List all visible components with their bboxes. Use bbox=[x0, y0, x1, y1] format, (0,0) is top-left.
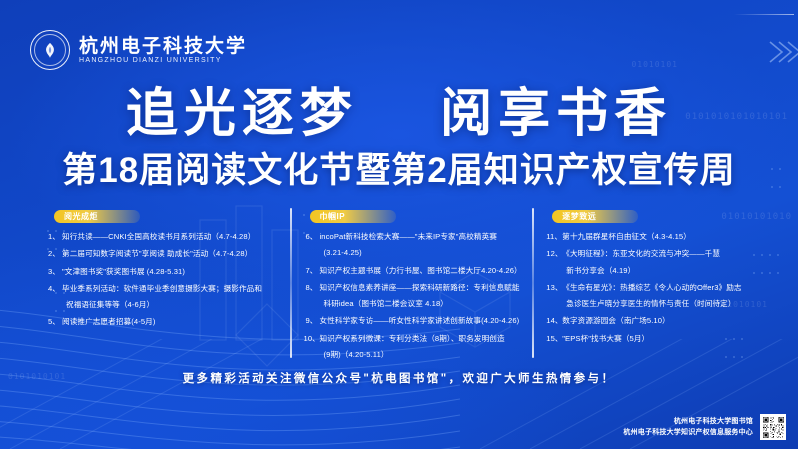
university-name-en: HANGZHOU DIANZI UNIVERSITY bbox=[79, 57, 247, 64]
binary-decoration-5: 01010101 bbox=[631, 60, 678, 69]
item-text: 第十九届群星杯自由征文（4.3-4.15） bbox=[562, 232, 772, 242]
item-text: 数字资源游园会（南广场5.10） bbox=[562, 316, 772, 326]
item-text-line2: 急诊医生卢晓分享医生的情怀与责任（时间待定） bbox=[562, 299, 772, 309]
item-number: 10、 bbox=[304, 334, 320, 361]
column-2: 巾帼IP 6、 incoPat新科技检索大赛——"未来IP专家"高校精英赛 (3… bbox=[290, 206, 533, 366]
column-divider bbox=[532, 208, 534, 358]
list-item: 10、 知识产权系列微课：专利分类法（8期）、职务发明创造 (9期)（4.20-… bbox=[304, 334, 525, 361]
item-text-line2: 科研idea（图书馆二楼会议室 4.18） bbox=[320, 299, 525, 309]
qr-code-icon[interactable] bbox=[760, 414, 786, 440]
chevron-arrow-icon bbox=[766, 38, 798, 71]
item-text: 《生命有星光》：热播综艺《令人心动的Offer3》励志 急诊医生卢晓分享医生的情… bbox=[562, 283, 772, 310]
item-text: 知识产权系列微课：专利分类法（8期）、职务发明创造 (9期)（4.20-5.11… bbox=[320, 334, 525, 361]
item-number: 2、 bbox=[46, 249, 62, 259]
title-main-right: 阅享书香 bbox=[440, 83, 672, 144]
item-text-line2: (9期)（4.20-5.11） bbox=[320, 350, 525, 360]
item-number: 1、 bbox=[46, 232, 62, 242]
footer-text: 杭州电子科技大学图书馆 杭州电子科技大学知识产权信息服务中心 bbox=[623, 416, 753, 438]
item-number: 4、 bbox=[46, 284, 62, 311]
column-3-items: 11、 第十九届群星杯自由征文（4.3-4.15） 12、 《大明征程》：东亚文… bbox=[546, 232, 772, 344]
item-number: 6、 bbox=[304, 232, 320, 259]
item-text-line1: 知识产权信息素养讲座——探索科研新路径：专利信息赋能 bbox=[320, 283, 520, 292]
column-3-badge: 逐梦致远 bbox=[552, 210, 638, 223]
item-text: 知识产权主题书展（力行书屋、图书馆二楼大厅4.20-4.26） bbox=[320, 266, 525, 276]
item-text-line2: 祝福语征集等等（4-6月） bbox=[62, 300, 282, 310]
column-3: 逐梦致远 11、 第十九届群星杯自由征文（4.3-4.15） 12、 《大明征程… bbox=[532, 206, 780, 366]
item-number: 12、 bbox=[546, 249, 562, 276]
page-title: 追光逐梦 阅享书香 bbox=[0, 88, 798, 140]
item-text-line1: incoPat新科技检索大赛——"未来IP专家"高校精英赛 bbox=[320, 232, 497, 241]
column-1-items: 1、 知行共读——CNKI全国高校读书月系列活动（4.7-4.28） 2、 第二… bbox=[34, 232, 282, 328]
item-text-line1: 知识产权系列微课：专利分类法（8期）、职务发明创造 bbox=[320, 334, 505, 343]
item-text-line2: (3.21-4.25) bbox=[320, 248, 525, 258]
list-item: 3、 "文津图书奖"获奖图书展 (4.28-5.31) bbox=[46, 267, 282, 277]
column-1-badge: 阅光成炬 bbox=[54, 210, 140, 223]
item-text: 女性科学家专访——听女性科学家讲述创新故事(4.20-4.26) bbox=[320, 316, 525, 326]
call-to-action: 更多精彩活动关注微信公众号"杭电图书馆"，欢迎广大师生热情参与！ bbox=[0, 370, 798, 386]
list-item: 2、 第二届可知数字阅读节"享阅读 助成长"活动（4.7-4.28） bbox=[46, 249, 282, 259]
item-text-line2: 新书分享会（4.19） bbox=[562, 266, 772, 276]
list-item: 5、 阅读推广志愿者招募(4-5月) bbox=[46, 317, 282, 327]
university-logo: 杭州电子科技大学 HANGZHOU DIANZI UNIVERSITY bbox=[30, 30, 247, 70]
list-item: 8、 知识产权信息素养讲座——探索科研新路径：专利信息赋能 科研idea（图书馆… bbox=[304, 283, 525, 310]
item-text: 毕业季系列活动：软件通毕业季创意摄影大赛；摄影作品和 祝福语征集等等（4-6月） bbox=[62, 284, 282, 311]
footer-line-1: 杭州电子科技大学图书馆 bbox=[623, 416, 753, 427]
item-text: "EPS杯"找书大赛（5月） bbox=[562, 334, 772, 344]
list-item: 1、 知行共读——CNKI全国高校读书月系列活动（4.7-4.28） bbox=[46, 232, 282, 242]
item-number: 15、 bbox=[546, 334, 562, 344]
item-number: 13、 bbox=[546, 283, 562, 310]
page-subtitle: 第18届阅读文化节暨第2届知识产权宣传周 bbox=[0, 152, 798, 191]
list-item: 11、 第十九届群星杯自由征文（4.3-4.15） bbox=[546, 232, 772, 242]
university-crest-icon bbox=[30, 30, 70, 70]
item-text: incoPat新科技检索大赛——"未来IP专家"高校精英赛 (3.21-4.25… bbox=[320, 232, 525, 259]
item-number: 9、 bbox=[304, 316, 320, 326]
list-item: 15、 "EPS杯"找书大赛（5月） bbox=[546, 334, 772, 344]
item-text-line1: 《大明征程》：东亚文化的交流与冲突——千慧 bbox=[562, 249, 720, 258]
item-text: 《大明征程》：东亚文化的交流与冲突——千慧 新书分享会（4.19） bbox=[562, 249, 772, 276]
column-2-badge: 巾帼IP bbox=[310, 210, 396, 223]
column-divider bbox=[290, 208, 292, 358]
item-number: 3、 bbox=[46, 267, 62, 277]
list-item: 4、 毕业季系列活动：软件通毕业季创意摄影大赛；摄影作品和 祝福语征集等等（4-… bbox=[46, 284, 282, 311]
item-text: 第二届可知数字阅读节"享阅读 助成长"活动（4.7-4.28） bbox=[62, 249, 282, 259]
item-text: "文津图书奖"获奖图书展 (4.28-5.31) bbox=[62, 267, 282, 277]
title-main-left: 追光逐梦 bbox=[126, 83, 358, 144]
university-name-cn: 杭州电子科技大学 bbox=[79, 37, 247, 56]
crest-bird-glyph bbox=[41, 41, 59, 59]
column-2-items: 6、 incoPat新科技检索大赛——"未来IP专家"高校精英赛 (3.21-4… bbox=[304, 232, 525, 360]
list-item: 12、 《大明征程》：东亚文化的交流与冲突——千慧 新书分享会（4.19） bbox=[546, 249, 772, 276]
item-text: 阅读推广志愿者招募(4-5月) bbox=[62, 317, 282, 327]
item-text: 知识产权信息素养讲座——探索科研新路径：专利信息赋能 科研idea（图书馆二楼会… bbox=[320, 283, 525, 310]
item-number: 8、 bbox=[304, 283, 320, 310]
list-item: 13、 《生命有星光》：热播综艺《令人心动的Offer3》励志 急诊医生卢晓分享… bbox=[546, 283, 772, 310]
list-item: 9、 女性科学家专访——听女性科学家讲述创新故事(4.20-4.26) bbox=[304, 316, 525, 326]
poster-canvas: 0101010101010101 01010101010 01010101010… bbox=[0, 0, 798, 449]
list-item: 14、 数字资源游园会（南广场5.10） bbox=[546, 316, 772, 326]
footer-line-2: 杭州电子科技大学知识产权信息服务中心 bbox=[623, 427, 753, 438]
item-number: 14、 bbox=[546, 316, 562, 326]
item-number: 7、 bbox=[304, 266, 320, 276]
column-1: 阅光成炬 1、 知行共读——CNKI全国高校读书月系列活动（4.7-4.28） … bbox=[34, 206, 290, 366]
item-text-line1: 毕业季系列活动：软件通毕业季创意摄影大赛；摄影作品和 bbox=[62, 284, 262, 293]
item-number: 5、 bbox=[46, 317, 62, 327]
activity-columns: 阅光成炬 1、 知行共读——CNKI全国高校读书月系列活动（4.7-4.28） … bbox=[34, 206, 780, 366]
item-text: 知行共读——CNKI全国高校读书月系列活动（4.7-4.28） bbox=[62, 232, 282, 242]
list-item: 7、 知识产权主题书展（力行书屋、图书馆二楼大厅4.20-4.26） bbox=[304, 266, 525, 276]
list-item: 6、 incoPat新科技检索大赛——"未来IP专家"高校精英赛 (3.21-4… bbox=[304, 232, 525, 259]
footer: 杭州电子科技大学图书馆 杭州电子科技大学知识产权信息服务中心 bbox=[623, 414, 786, 440]
item-text-line1: 《生命有星光》：热播综艺《令人心动的Offer3》励志 bbox=[562, 283, 741, 292]
accent-line bbox=[734, 14, 794, 15]
item-number: 11、 bbox=[546, 232, 562, 242]
